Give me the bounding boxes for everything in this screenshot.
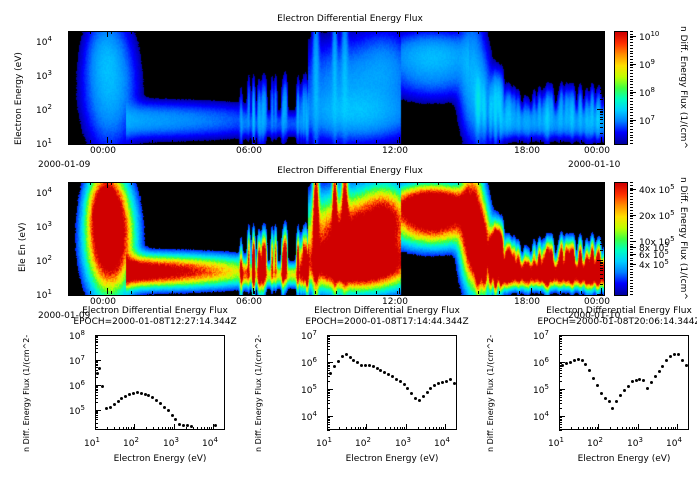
spectrum-data-point [140, 392, 143, 395]
colorbar-minor-tick [630, 107, 633, 108]
y-minor-tick [68, 111, 71, 112]
spectrum-xlabel-2: Electron Energy (eV) [539, 454, 697, 464]
y-minor-tick [68, 200, 71, 201]
x-minor-tick [131, 291, 132, 294]
spectrum-x-minor-tick [193, 427, 194, 430]
spectrogram-mid-ylabel: Ele En (eV) [18, 222, 28, 272]
colorbar-minor-tick [630, 126, 633, 127]
spectrum-y-minor-tick [327, 393, 330, 394]
x-minor-tick [601, 140, 602, 143]
spectrum-y-minor-tick [559, 338, 562, 339]
y-tick-label: 104 [36, 186, 52, 199]
spectrum-data-point [669, 355, 672, 358]
colorbar-minor-tick [630, 230, 633, 231]
colorbar-minor-tick [630, 288, 633, 289]
spectrum-x-tick-label: 102 [123, 436, 139, 449]
x-minor-tick [336, 182, 337, 185]
spectrum-x-minor-tick [168, 427, 169, 430]
spectrum-y-tick-label: 104 [533, 410, 549, 423]
spectrum-y-minor-tick [559, 354, 562, 355]
colorbar-minor-tick [630, 249, 633, 250]
x-minor-tick [315, 291, 316, 294]
x-minor-tick [254, 182, 255, 185]
spectrum-x-minor-tick [119, 427, 120, 430]
spectrum-y-minor-tick [95, 411, 98, 412]
spectrum-data-point [642, 379, 645, 382]
spectrum-x-major-tick [445, 424, 446, 430]
spectrum-x-tick-label: 102 [355, 436, 371, 449]
spectrum-data-point [345, 353, 348, 356]
spectrum-x-minor-tick [385, 427, 386, 430]
colorbar-minor-tick [630, 210, 633, 211]
spectrum-y-minor-tick [95, 352, 98, 353]
spectrum-data-point [650, 381, 653, 384]
x-minor-tick [233, 291, 234, 294]
spectrum-x-minor-tick [587, 427, 588, 430]
x-minor-tick [172, 140, 173, 143]
colorbar-minor-tick [630, 67, 633, 68]
spectrum-y-minor-tick [327, 354, 330, 355]
spectrum-y-minor-tick [327, 420, 330, 421]
y-minor-tick [68, 210, 71, 211]
spectrum-data-point [171, 414, 174, 417]
spectrum-x-minor-tick [346, 427, 347, 430]
y-minor-tick [600, 270, 603, 271]
colorbar-minor-tick [630, 199, 633, 200]
y-major-tick [597, 41, 603, 42]
colorbar-minor-tick [630, 274, 633, 275]
y-minor-tick [68, 65, 71, 66]
spectrum-x-major-tick [366, 424, 367, 430]
spectrum-y-tick-label: 106 [301, 356, 317, 369]
spectrum-x-minor-tick [201, 427, 202, 430]
colorbar-minor-tick [630, 286, 633, 287]
y-minor-tick [600, 274, 603, 275]
spectrum-y-minor-tick [95, 348, 98, 349]
x-minor-tick [70, 182, 71, 185]
x-minor-tick [90, 31, 91, 34]
y-tick-label: 103 [36, 220, 52, 233]
spectrum-y-minor-tick [327, 336, 330, 337]
x-minor-tick [213, 291, 214, 294]
spectrum-data-point [329, 372, 332, 375]
y-tick-label: 101 [36, 288, 52, 301]
x-minor-tick [295, 291, 296, 294]
colorbar-minor-tick [630, 87, 633, 88]
spectrum-x-minor-tick [583, 427, 584, 430]
spectrum-x-minor-tick [571, 427, 572, 430]
y-minor-tick [68, 119, 71, 120]
colorbar-minor-tick [630, 232, 633, 233]
spectrum-data-point [147, 394, 150, 397]
x-minor-tick [478, 182, 479, 185]
x-minor-tick [601, 182, 602, 185]
spectrum-x-minor-tick [636, 427, 637, 430]
y-minor-tick [600, 240, 603, 241]
x-minor-tick [70, 31, 71, 34]
y-minor-tick [600, 262, 603, 263]
y-minor-tick [68, 196, 71, 197]
spectrum-y-minor-tick [327, 368, 330, 369]
spectrum-data-point [445, 380, 448, 383]
y-major-tick [68, 143, 74, 144]
x-tick-label: 00:00 [90, 146, 116, 156]
spectrum-y-minor-tick [95, 386, 98, 387]
spectrum-y-minor-tick [559, 368, 562, 369]
spectrum-x-minor-tick [358, 427, 359, 430]
colorbar-minor-tick [630, 227, 633, 228]
spectrum-y-minor-tick [327, 422, 330, 423]
y-minor-tick [68, 228, 71, 229]
spectrum-title-2: Electron Differential Energy Flux [519, 306, 697, 316]
spectrum-y-minor-tick [95, 413, 98, 414]
colorbar-minor-tick [630, 252, 633, 253]
colorbar-minor-tick [630, 241, 633, 242]
spectrum-x-tick-label: 104 [666, 436, 682, 449]
x-minor-tick [601, 31, 602, 34]
y-major-tick [597, 260, 603, 261]
y-minor-tick [68, 284, 71, 285]
x-minor-tick [458, 182, 459, 185]
spectrum-y-minor-tick [559, 349, 562, 350]
spectrum-x-minor-tick [610, 427, 611, 430]
x-minor-tick [172, 291, 173, 294]
spectrum-x-minor-tick [578, 427, 579, 430]
y-major-tick [68, 226, 74, 227]
colorbar-minor-tick [630, 202, 633, 203]
spectrum-data-point [352, 359, 355, 362]
spectrum-y-minor-tick [559, 346, 562, 347]
spectrogram-top-image [68, 31, 605, 145]
x-minor-tick [458, 140, 459, 143]
x-major-tick [399, 31, 400, 37]
spectrum-y-minor-tick [95, 342, 98, 343]
spectrum-x-minor-tick [595, 427, 596, 430]
spectrum-y-minor-tick [559, 419, 562, 420]
y-minor-tick [68, 133, 71, 134]
y-minor-tick [600, 46, 603, 47]
colorbar-minor-tick [630, 115, 633, 116]
x-minor-tick [336, 291, 337, 294]
y-major-tick [597, 226, 603, 227]
spectrum-x-minor-tick [209, 427, 210, 430]
spectrum-x-major-tick [327, 424, 328, 430]
y-minor-tick [600, 123, 603, 124]
spectrum-y-minor-tick [327, 343, 330, 344]
spectrum-data-point [120, 397, 123, 400]
x-minor-tick [519, 140, 520, 143]
spectrum-x-minor-tick [665, 427, 666, 430]
spectrum-data-point [182, 424, 185, 427]
spectrum-y-minor-tick [559, 430, 562, 431]
spectrum-y-minor-tick [95, 377, 98, 378]
spectrum-data-point [383, 371, 386, 374]
y-minor-tick [600, 112, 603, 113]
spectrum-data-point [399, 380, 402, 383]
x-minor-tick [233, 140, 234, 143]
colorbar-minor-tick [630, 42, 633, 43]
x-major-tick [531, 182, 532, 188]
spectrum-y-minor-tick [95, 341, 98, 342]
x-major-tick [107, 137, 108, 143]
colorbar-minor-tick [630, 207, 633, 208]
spectrum-y-minor-tick [95, 389, 98, 390]
spectrum-y-tick-label: 106 [533, 356, 549, 369]
spectrum-x-minor-tick [429, 427, 430, 430]
y-minor-tick [68, 236, 71, 237]
spectrum-title-0: Electron Differential Energy Flux [55, 306, 255, 316]
y-minor-tick [600, 263, 603, 264]
spectrum-data-point [136, 391, 139, 394]
colorbar-minor-tick [630, 90, 633, 91]
colorbar-minor-tick [630, 140, 633, 141]
colorbar-minor-tick [630, 193, 633, 194]
x-minor-tick [540, 182, 541, 185]
y-minor-tick [600, 45, 603, 46]
spectrum-y-minor-tick [95, 402, 98, 403]
y-minor-tick [68, 55, 71, 56]
spectrum-ylabel-0: n Diff. Energy Flux (1/(cm^2- [22, 335, 31, 452]
spectrum-y-minor-tick [95, 419, 98, 420]
colorbar-tick-label: 40x 105 [639, 183, 675, 196]
colorbar-minor-tick [630, 45, 633, 46]
spectrum-y-minor-tick [327, 366, 330, 367]
x-minor-tick [581, 140, 582, 143]
y-minor-tick [600, 194, 603, 195]
x-tick-label: 12:00 [382, 146, 408, 156]
y-tick-label: 102 [36, 103, 52, 116]
y-minor-tick [600, 55, 603, 56]
y-minor-tick [68, 117, 71, 118]
spectrum-y-minor-tick [95, 395, 98, 396]
y-minor-tick [68, 112, 71, 113]
spectrum-y-minor-tick [559, 370, 562, 371]
spectrum-y-minor-tick [559, 343, 562, 344]
x-minor-tick [131, 140, 132, 143]
x-minor-tick [376, 31, 377, 34]
spectrum-data-point [391, 375, 394, 378]
y-minor-tick [68, 93, 71, 94]
x-major-tick [399, 137, 400, 143]
y-major-tick [597, 109, 603, 110]
y-major-tick [68, 192, 74, 193]
spectrum-x-tick-label: 101 [548, 436, 564, 449]
x-minor-tick [274, 182, 275, 185]
colorbar-minor-tick [630, 255, 633, 256]
spectrum-plotbox-0 [95, 335, 225, 430]
spectrum-x-minor-tick [133, 427, 134, 430]
colorbar-tick-label: 107 [639, 114, 655, 127]
spectrum-x-minor-tick [365, 427, 366, 430]
x-minor-tick [560, 291, 561, 294]
y-minor-tick [600, 77, 603, 78]
spectrum-x-minor-tick [123, 427, 124, 430]
y-minor-tick [600, 244, 603, 245]
x-minor-tick [295, 182, 296, 185]
colorbar-minor-tick [630, 188, 633, 189]
spectrum-data-point [387, 373, 390, 376]
x-minor-tick [499, 291, 500, 294]
y-tick-label: 101 [36, 137, 52, 150]
y-minor-tick [68, 202, 71, 203]
colorbar-minor-tick [630, 238, 633, 239]
spectrum-data-point [364, 364, 367, 367]
x-minor-tick [213, 140, 214, 143]
colorbar-minor-tick [630, 283, 633, 284]
spectrum-y-minor-tick [95, 415, 98, 416]
spectrum-data-point [159, 402, 162, 405]
colorbar-minor-tick [630, 291, 633, 292]
spectrum-data-point [654, 375, 657, 378]
spectrum-data-point [573, 359, 576, 362]
x-major-tick [107, 182, 108, 188]
x-minor-tick [274, 140, 275, 143]
spectrum-x-tick-label: 103 [395, 436, 411, 449]
spectrum-x-minor-tick [204, 427, 205, 430]
x-minor-tick [438, 31, 439, 34]
spectrum-x-minor-tick [363, 427, 364, 430]
x-minor-tick [90, 291, 91, 294]
spectrum-data-point [214, 424, 217, 427]
spectrum-data-point [600, 392, 603, 395]
colorbar-minor-tick [630, 34, 633, 35]
spectrum-y-minor-tick [95, 417, 98, 418]
y-minor-tick [600, 59, 603, 60]
spectrum-y-minor-tick [327, 430, 330, 431]
spectrum-title-1: Electron Differential Energy Flux [287, 306, 487, 316]
spectrum-x-minor-tick [673, 427, 674, 430]
spectrogram-top-xdate-right: 2000-01-10 [568, 160, 620, 170]
spectrum-y-minor-tick [327, 341, 330, 342]
y-minor-tick [600, 210, 603, 211]
spectrum-data-point [596, 384, 599, 387]
spectrum-y-minor-tick [559, 408, 562, 409]
colorbar-minor-tick [630, 221, 633, 222]
x-minor-tick [417, 182, 418, 185]
spectrum-data-point [403, 383, 406, 386]
spectrum-data-point [356, 361, 359, 364]
spectrum-y-minor-tick [327, 339, 330, 340]
colorbar-minor-tick [630, 137, 633, 138]
colorbar-minor-tick [630, 48, 633, 49]
spectrum-data-point [109, 406, 112, 409]
spectrum-y-minor-tick [327, 363, 330, 364]
spectrum-data-point [577, 358, 580, 361]
spectrum-y-minor-tick [327, 390, 330, 391]
y-minor-tick [600, 197, 603, 198]
x-minor-tick [152, 31, 153, 34]
spectrum-x-minor-tick [170, 427, 171, 430]
x-tick-label: 06:00 [236, 146, 262, 156]
spectrum-y-minor-tick [559, 400, 562, 401]
x-minor-tick [70, 140, 71, 143]
x-minor-tick [295, 140, 296, 143]
colorbar-minor-tick [630, 65, 633, 66]
spectrum-y-minor-tick [559, 376, 562, 377]
y-minor-tick [600, 229, 603, 230]
x-tick-label: 18:00 [514, 146, 540, 156]
x-minor-tick [581, 31, 582, 34]
x-major-tick [531, 288, 532, 294]
x-minor-tick [376, 291, 377, 294]
x-major-tick [531, 137, 532, 143]
spectrum-data-point [372, 365, 375, 368]
y-minor-tick [600, 51, 603, 52]
x-tick-label: 00:00 [584, 146, 610, 156]
spectrum-data-point [395, 378, 398, 381]
spectrum-data-point [638, 378, 641, 381]
spectrum-y-minor-tick [95, 339, 98, 340]
spectrum-x-minor-tick [629, 427, 630, 430]
spectrum-y-minor-tick [327, 338, 330, 339]
spectrum-x-minor-tick [390, 427, 391, 430]
x-minor-tick [397, 31, 398, 34]
spectrum-data-point [163, 406, 166, 409]
spectrogram-mid-colorbar [614, 182, 628, 296]
spectrum-xlabel-0: Electron Energy (eV) [75, 454, 245, 464]
spectrum-data-point [410, 392, 413, 395]
y-minor-tick [600, 228, 603, 229]
spectrum-data-point [117, 400, 120, 403]
spectrum-y-tick-label: 106 [69, 379, 85, 392]
x-minor-tick [70, 291, 71, 294]
colorbar-minor-tick [630, 81, 633, 82]
spectrum-x-minor-tick [634, 427, 635, 430]
spectrum-data-point [581, 359, 584, 362]
y-minor-tick [600, 111, 603, 112]
x-minor-tick [152, 140, 153, 143]
y-minor-tick [600, 85, 603, 86]
colorbar-tick [630, 264, 636, 265]
x-minor-tick [397, 182, 398, 185]
y-minor-tick [68, 229, 71, 230]
y-minor-tick [68, 274, 71, 275]
spectrum-x-minor-tick [650, 427, 651, 430]
colorbar-minor-tick [630, 185, 633, 186]
spectrum-x-minor-tick [339, 427, 340, 430]
x-major-tick [107, 31, 108, 37]
spectrum-ylabel-1: n Diff. Energy Flux (1/(cm^2- [254, 335, 263, 452]
x-minor-tick [213, 182, 214, 185]
colorbar-tick-label: 108 [639, 86, 655, 99]
spectrum-x-major-tick [406, 424, 407, 430]
y-minor-tick [600, 196, 603, 197]
x-minor-tick [499, 31, 500, 34]
spectrum-y-minor-tick [327, 400, 330, 401]
spectrum-data-point [623, 389, 626, 392]
y-minor-tick [600, 83, 603, 84]
spectrum-y-minor-tick [95, 345, 98, 346]
spectrum-data-point [588, 369, 591, 372]
spectrum-data-point [178, 423, 181, 426]
y-minor-tick [68, 59, 71, 60]
spectrum-y-minor-tick [95, 370, 98, 371]
spectrum-data-point [406, 387, 409, 390]
x-minor-tick [540, 31, 541, 34]
spectrum-data-point [453, 382, 456, 385]
spectrum-x-minor-tick [592, 427, 593, 430]
spectrum-data-point [379, 369, 382, 372]
spectrum-data-point [449, 378, 452, 381]
x-minor-tick [111, 31, 112, 34]
y-minor-tick [68, 99, 71, 100]
y-minor-tick [68, 49, 71, 50]
spectrum-y-minor-tick [559, 390, 562, 391]
spectrum-data-point [569, 361, 572, 364]
spectrum-x-minor-tick [207, 427, 208, 430]
spectrum-x-minor-tick [661, 427, 662, 430]
spectrum-x-minor-tick [397, 427, 398, 430]
